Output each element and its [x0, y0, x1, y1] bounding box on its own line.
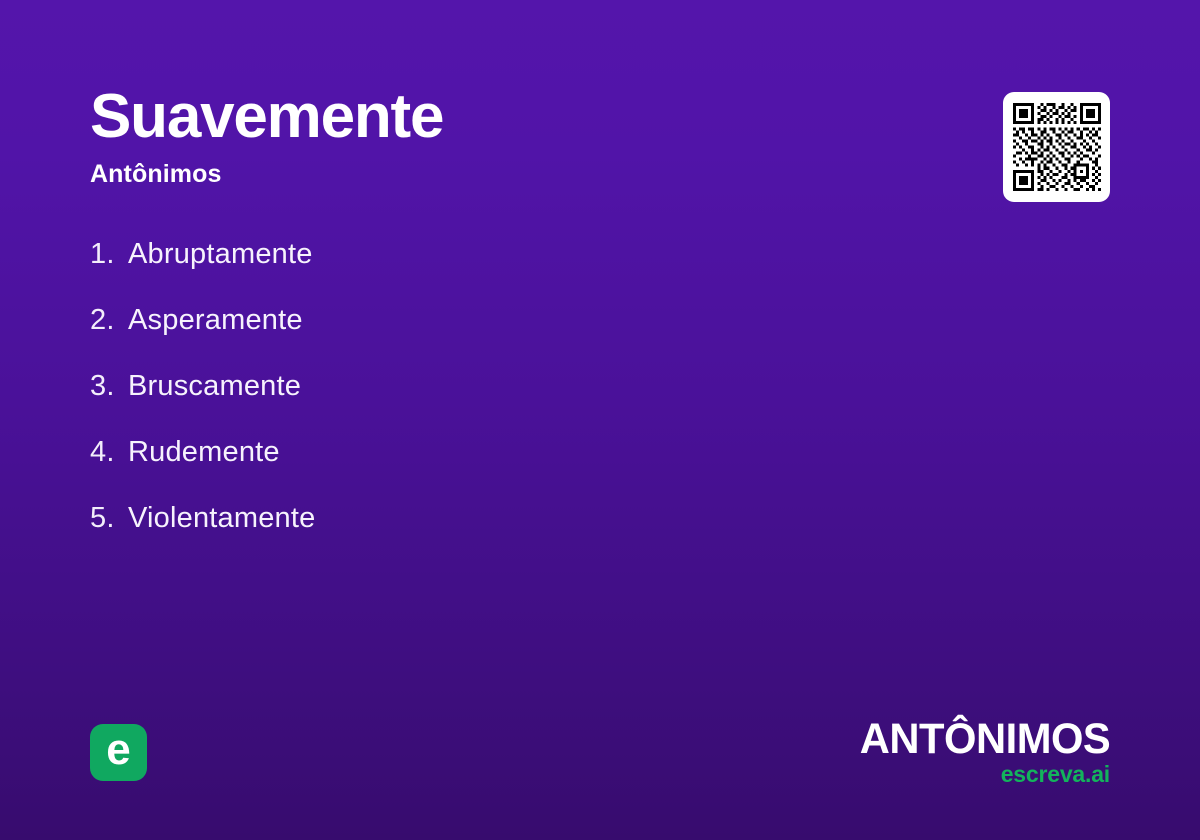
list-item-index: 4. [90, 436, 128, 469]
escreva-logo-badge: e [90, 724, 147, 781]
wordmark-domain: escreva.ai [852, 763, 1110, 786]
list-item-word: Rudemente [128, 436, 280, 469]
list-item: 5. Violentamente [90, 502, 890, 568]
list-item-word: Asperamente [128, 304, 303, 337]
list-item-index: 2. [90, 304, 128, 337]
header: Suavemente Antônimos [90, 86, 443, 187]
list-item: 4. Rudemente [90, 436, 890, 502]
qr-code-icon [1013, 103, 1101, 191]
list-item: 2. Asperamente [90, 304, 890, 370]
brand-wordmark: ANTÔNIMOS escreva.ai [852, 718, 1110, 786]
list-item-index: 3. [90, 370, 128, 403]
antonym-card: Suavemente Antônimos [0, 0, 1200, 840]
list-item-index: 1. [90, 238, 128, 271]
list-item-word: Abruptamente [128, 238, 313, 271]
page-subtitle: Antônimos [90, 162, 443, 187]
wordmark-title: ANTÔNIMOS [859, 718, 1110, 761]
brand-letter-e-icon: e [106, 728, 130, 772]
list-item: 3. Bruscamente [90, 370, 890, 436]
qr-code-panel[interactable] [1003, 92, 1110, 202]
antonym-list: 1. Abruptamente 2. Asperamente 3. Brusca… [90, 238, 890, 568]
list-item-word: Bruscamente [128, 370, 301, 403]
list-item-index: 5. [90, 502, 128, 535]
list-item-word: Violentamente [128, 502, 315, 535]
list-item: 1. Abruptamente [90, 238, 890, 304]
page-title: Suavemente [90, 86, 443, 148]
